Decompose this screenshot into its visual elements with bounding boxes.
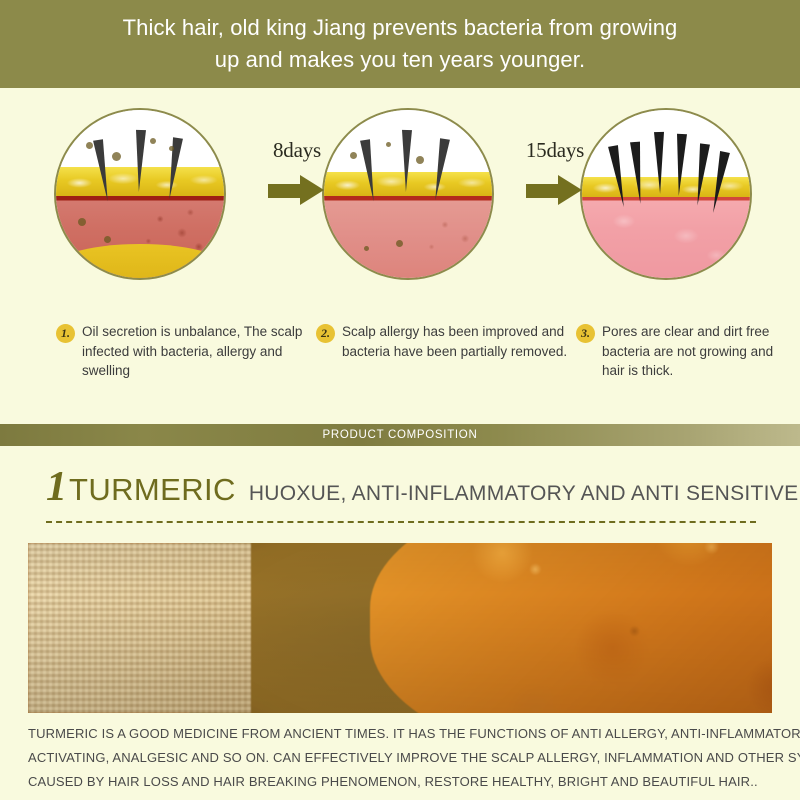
caption-text: Pores are clear and dirt free bacteria a… (602, 322, 791, 381)
caption-item-2: 2. Scalp allergy has been improved and b… (316, 322, 571, 361)
bacteria-speck (150, 138, 156, 144)
arrow-right-icon (526, 175, 584, 205)
bacteria-speck (86, 142, 93, 149)
bacteria-speck (364, 246, 369, 251)
ingredient-subtitle: HUOXUE, ANTI-INFLAMMATORY AND ANTI SENSI… (249, 483, 799, 504)
bacteria-speck (78, 218, 86, 226)
section-divider-bar: PRODUCT COMPOSITION (0, 424, 800, 446)
bacteria-speck (386, 142, 391, 147)
caption-row: 1. Oil secretion is unbalance, The scalp… (0, 322, 800, 417)
dermis-layer (582, 197, 750, 278)
caption-number-badge: 3. (576, 324, 595, 343)
caption-text: Oil secretion is unbalance, The scalp in… (82, 322, 306, 381)
description-line-3: CAUSED BY HAIR LOSS AND HAIR BREAKING PH… (28, 770, 778, 794)
step-label: 15days (500, 138, 610, 163)
section-title: PRODUCT COMPOSITION (323, 429, 478, 441)
headline-line-1: Thick hair, old king Jiang prevents bact… (123, 15, 678, 41)
dashed-divider (46, 521, 756, 523)
ingredient-name: TURMERIC (69, 474, 236, 505)
turmeric-powder (370, 543, 772, 713)
headline-line-2: up and makes you ten years younger. (215, 47, 585, 73)
product-detail-page: Thick hair, old king Jiang prevents bact… (0, 0, 800, 800)
ingredient-description: TURMERIC IS A GOOD MEDICINE FROM ANCIENT… (28, 722, 778, 794)
caption-number-badge: 2. (316, 324, 335, 343)
step-label: 8days (242, 138, 352, 163)
bacteria-speck (112, 152, 121, 161)
ingredient-number: 1 (46, 466, 67, 508)
description-line-1: TURMERIC IS A GOOD MEDICINE FROM ANCIENT… (28, 722, 778, 746)
scalp-diagram-before-icon (54, 108, 226, 280)
headline-banner: Thick hair, old king Jiang prevents bact… (0, 0, 800, 88)
bacteria-speck (416, 156, 424, 164)
bacteria-speck (396, 240, 403, 247)
description-line-2: ACTIVATING, ANALGESIC AND SO ON. CAN EFF… (28, 746, 778, 770)
ingredient-photo (28, 543, 772, 713)
ingredient-heading: 1 TURMERIC HUOXUE, ANTI-INFLAMMATORY AND… (46, 466, 798, 508)
burlap-cloth (28, 543, 251, 713)
process-illustration-row: 8days 15days (0, 100, 800, 315)
follicle-base-layer (54, 244, 226, 280)
caption-text: Scalp allergy has been improved and bact… (342, 322, 571, 361)
process-step-15days: 15days (500, 138, 610, 205)
hair-strand-icon (654, 132, 665, 194)
dermis-layer (324, 196, 492, 278)
caption-number-badge: 1. (56, 324, 75, 343)
bacteria-speck (169, 146, 174, 151)
caption-item-1: 1. Oil secretion is unbalance, The scalp… (56, 322, 306, 381)
bacteria-speck (104, 236, 111, 243)
process-step-8days: 8days (242, 138, 352, 205)
scalp-stage-1 (54, 108, 226, 280)
arrow-right-icon (268, 175, 326, 205)
caption-item-3: 3. Pores are clear and dirt free bacteri… (576, 322, 791, 381)
hair-strand-icon (401, 130, 412, 192)
